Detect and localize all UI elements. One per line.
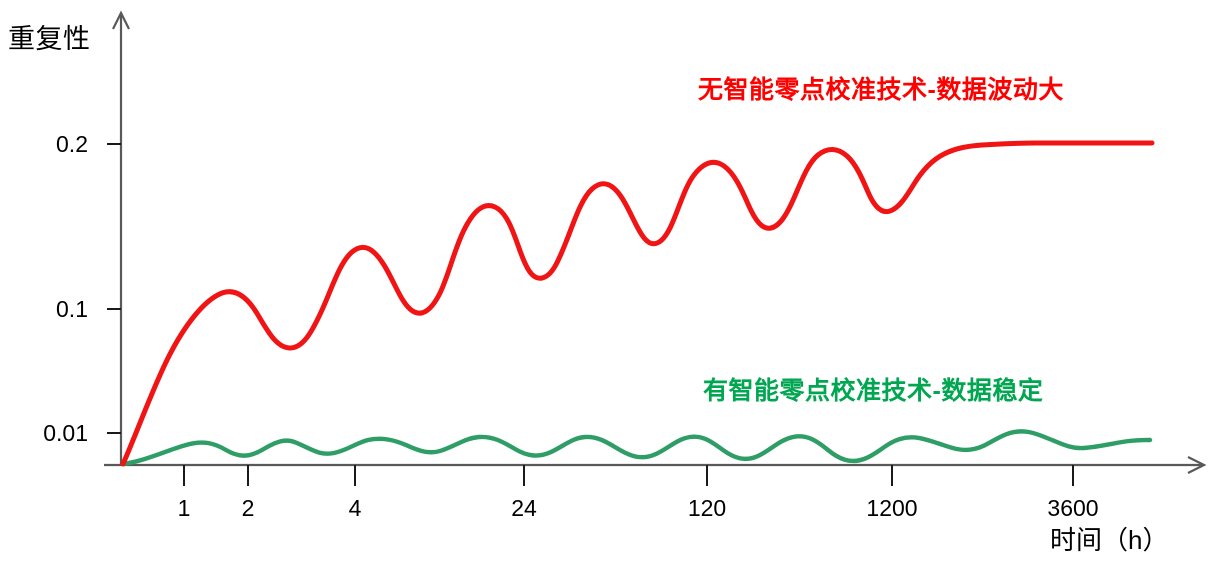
y-tick-label-0.1: 0.1 bbox=[12, 298, 88, 321]
x-tick-label-1: 1 bbox=[149, 497, 219, 520]
y-tick-label-0.01: 0.01 bbox=[12, 422, 88, 445]
x-tick-label-4: 4 bbox=[320, 497, 390, 520]
y-axis-title: 重复性 bbox=[8, 26, 91, 53]
chart-container: 重复性 0.2 0.1 0.01 1 2 4 24 120 1200 3600 … bbox=[0, 0, 1216, 580]
series-line-unstable bbox=[123, 143, 1152, 464]
x-tick-label-120: 120 bbox=[672, 497, 742, 520]
x-tick-label-3600: 3600 bbox=[1038, 497, 1108, 520]
x-axis bbox=[104, 457, 1204, 473]
y-tick-marks bbox=[107, 144, 121, 433]
x-tick-marks bbox=[184, 465, 1073, 486]
y-axis bbox=[113, 13, 129, 465]
x-axis-title: 时间（h） bbox=[1050, 527, 1168, 553]
y-tick-label-0.2: 0.2 bbox=[12, 133, 88, 156]
x-tick-label-2: 2 bbox=[213, 497, 283, 520]
x-tick-label-24: 24 bbox=[489, 497, 559, 520]
x-tick-label-1200: 1200 bbox=[857, 497, 927, 520]
series-annotation-stable: 有智能零点校准技术-数据稳定 bbox=[703, 379, 1043, 404]
series-line-stable bbox=[123, 431, 1150, 464]
series-annotation-unstable: 无智能零点校准技术-数据波动大 bbox=[698, 78, 1064, 103]
